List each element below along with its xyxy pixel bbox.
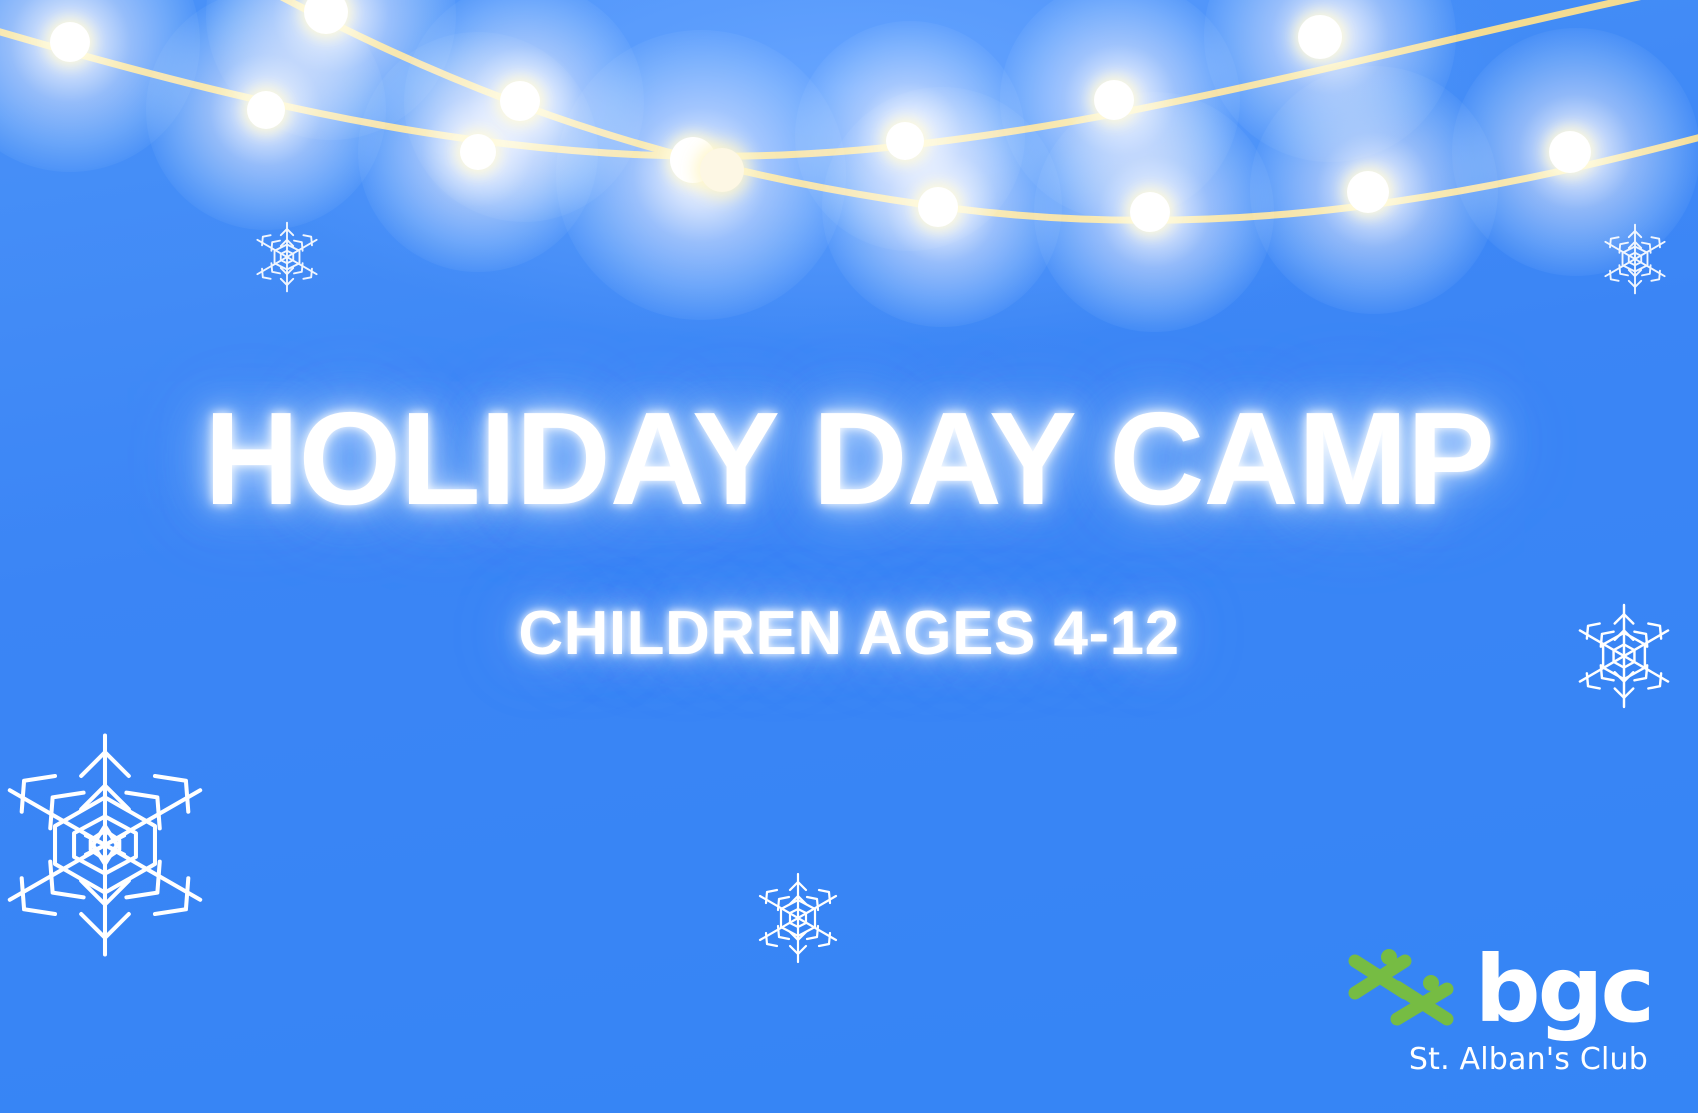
light-bulb — [304, 0, 348, 34]
holiday-day-camp-poster: HOLIDAY DAY CAMP CHILDREN AGES 4-12 bgc … — [0, 0, 1698, 1113]
light-bulb — [500, 81, 540, 121]
light-bulb — [1549, 131, 1591, 173]
light-bulb — [50, 22, 90, 62]
snowflake-top-left — [248, 218, 326, 296]
light-bulb — [460, 134, 496, 170]
bulb-glow — [404, 0, 644, 222]
light-bulb — [1094, 80, 1134, 120]
bulb-glow — [1034, 92, 1274, 332]
string-lights-decoration — [0, 0, 1698, 300]
bulb-glow — [556, 30, 846, 320]
light-bulb — [700, 148, 744, 192]
bulb-glow — [1204, 0, 1456, 162]
bulb-glow — [822, 87, 1062, 327]
string-lights-wires — [0, 0, 1698, 300]
brand-lockup: bgc — [1345, 947, 1652, 1034]
snowflake-top-right — [1596, 220, 1674, 298]
snowflake-bottom-center — [748, 868, 848, 968]
light-bulb — [247, 91, 285, 129]
brand-lockup-container: bgc St. Alban's Club — [1345, 947, 1652, 1077]
light-bulb — [918, 187, 958, 227]
brand-wordmark: bgc — [1475, 948, 1652, 1033]
bulb-glow — [0, 0, 200, 172]
bulb-glow — [206, 0, 456, 140]
light-bulb — [1298, 15, 1342, 59]
headline-block: HOLIDAY DAY CAMP CHILDREN AGES 4-12 — [0, 392, 1698, 665]
light-bulb — [670, 137, 716, 183]
light-bulb — [886, 122, 924, 160]
bgc-people-x-icon — [1345, 947, 1457, 1034]
page-title: HOLIDAY DAY CAMP — [204, 392, 1494, 527]
light-bulb — [1130, 192, 1170, 232]
bulb-glow — [146, 0, 386, 230]
snowflake-bottom-left — [0, 726, 224, 964]
brand-club-name: St. Alban's Club — [1409, 1042, 1648, 1077]
bulb-glow — [358, 32, 598, 272]
page-subtitle: CHILDREN AGES 4-12 — [518, 603, 1179, 665]
bulb-glow — [795, 21, 1025, 251]
bulb-glow — [1000, 0, 1240, 220]
light-bulb — [1347, 171, 1389, 213]
bulb-glow — [1452, 28, 1698, 276]
bulb-glow — [1250, 66, 1498, 314]
